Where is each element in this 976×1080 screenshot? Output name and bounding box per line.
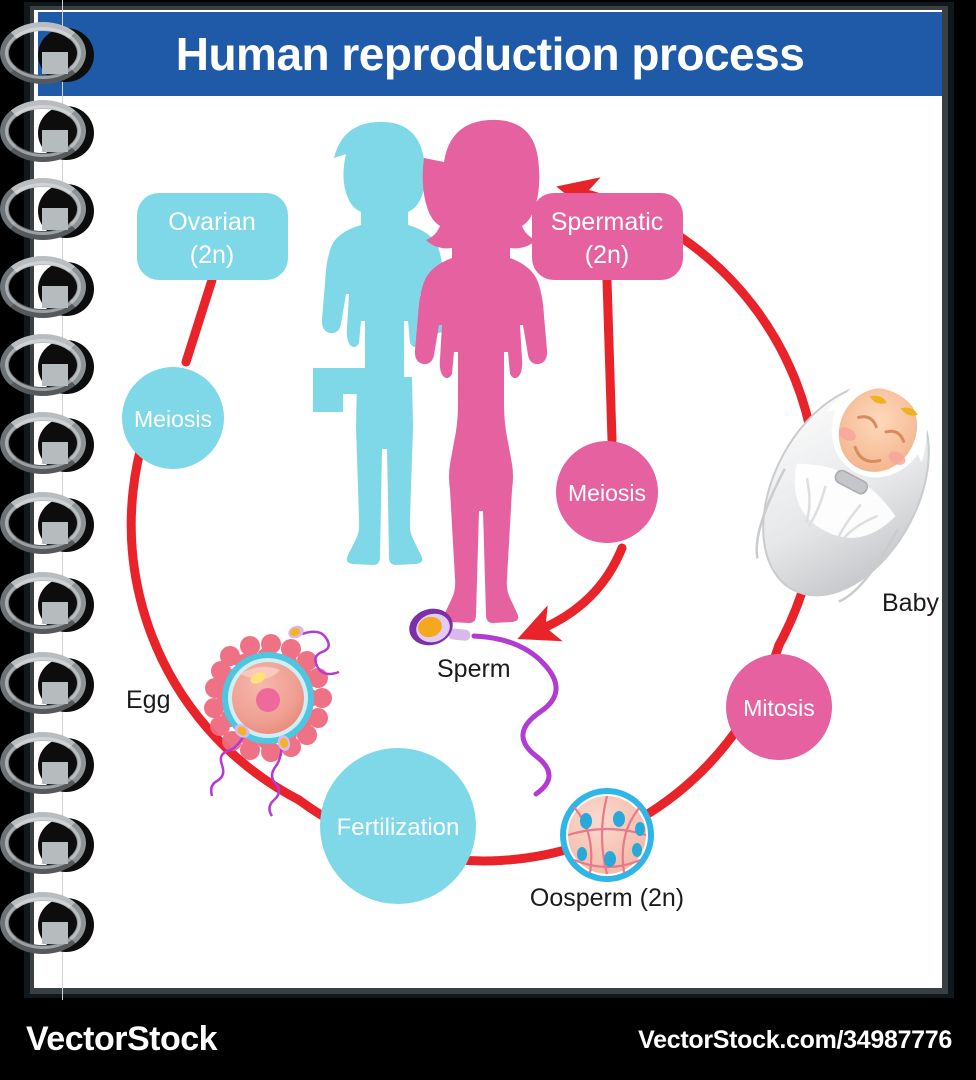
- spiral-ring: [0, 572, 92, 638]
- notebook-shell: Human reproduction process: [0, 0, 976, 1000]
- spiral-ring: [0, 732, 92, 798]
- node-spermatic-sub: (2n): [585, 241, 629, 269]
- page-title: Human reproduction process: [176, 31, 805, 77]
- spiral-ring: [0, 652, 92, 718]
- spiral-ring: [0, 256, 92, 322]
- spiral-ring: [0, 412, 92, 478]
- node-ovarian[interactable]: Ovarian (2n): [137, 193, 288, 280]
- spiral-ring: [0, 492, 92, 558]
- screenshot-root: Human reproduction process: [0, 0, 976, 1080]
- node-meiosis-right-label: Meiosis: [568, 480, 646, 506]
- arrow-meiosis-to-sperm: [539, 548, 622, 630]
- node-meiosis-right[interactable]: Meiosis: [556, 441, 658, 543]
- spiral-ring: [0, 812, 92, 878]
- watermark-brand: VectorStock: [26, 1020, 217, 1059]
- connector-spermatic-meiosis: [607, 280, 612, 440]
- baby-illustration: [729, 343, 942, 623]
- node-mitosis[interactable]: Mitosis: [726, 654, 832, 760]
- node-meiosis-left[interactable]: Meiosis: [122, 367, 224, 469]
- sperm-label: Sperm: [437, 655, 511, 683]
- spiral-ring: [0, 892, 92, 958]
- baby-label: Baby: [882, 589, 939, 617]
- connector-ovarian-meiosis: [186, 280, 212, 362]
- egg-label: Egg: [126, 686, 170, 714]
- node-ovarian-label: Ovarian: [168, 208, 256, 236]
- spiral-ring: [0, 178, 92, 244]
- watermark-url: VectorStock.com/34987776: [638, 1026, 952, 1055]
- reproduction-cycle-diagram: Ovarian (2n) Spermatic (2n) Meiosis Meio…: [34, 100, 942, 980]
- spiral-binding: [0, 0, 120, 1000]
- node-spermatic-label: Spermatic: [551, 208, 664, 236]
- spiral-ring: [0, 334, 92, 400]
- node-meiosis-left-label: Meiosis: [134, 406, 212, 432]
- oosperm-label: Oosperm (2n): [530, 884, 684, 912]
- girl-silhouette: [415, 120, 547, 623]
- watermark-bar: VectorStock VectorStock.com/34987776: [0, 1000, 976, 1080]
- node-fertilization-label: Fertilization: [337, 814, 460, 841]
- title-banner: Human reproduction process: [38, 12, 942, 96]
- spiral-ring: [0, 22, 92, 88]
- node-fertilization[interactable]: Fertilization: [320, 748, 476, 904]
- node-spermatic[interactable]: Spermatic (2n): [532, 193, 683, 280]
- node-ovarian-sub: (2n): [190, 241, 234, 269]
- node-mitosis-label: Mitosis: [743, 695, 815, 721]
- spiral-ring: [0, 100, 92, 166]
